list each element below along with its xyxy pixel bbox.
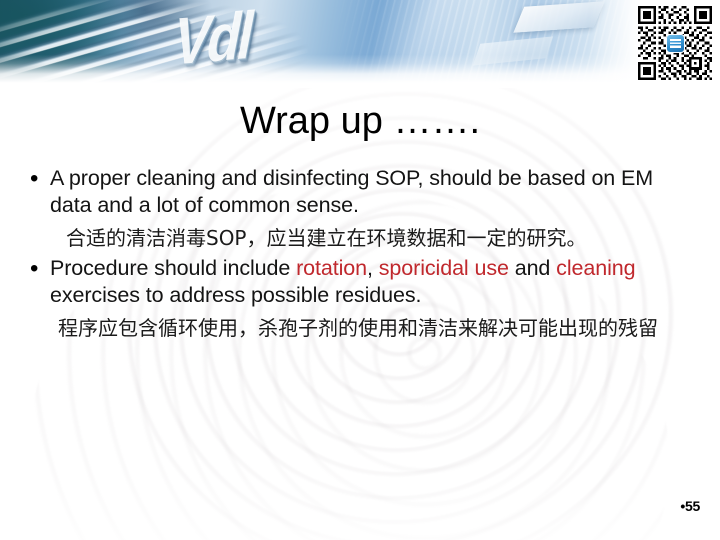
- bullet-item-2: • Procedure should include rotation, spo…: [24, 255, 696, 309]
- bullet-marker-icon: •: [24, 165, 50, 193]
- bullet-2-segment-4: and: [509, 256, 556, 280]
- bullet-2-segment-3: sporicidal use: [379, 256, 509, 280]
- bullet-text-2: Procedure should include rotation, spori…: [50, 255, 696, 309]
- bullet-1-translation: 合适的清洁消毒SOP，应当建立在环境数据和一定的研究。: [66, 225, 696, 251]
- bullet-2-segment-1: rotation: [296, 256, 367, 280]
- bullet-2-translation: 程序应包含循环使用，杀孢子剂的使用和清洁来解决可能出现的残留: [58, 315, 696, 341]
- bullet-2-segment-6: exercises to address possible residues.: [50, 283, 421, 307]
- bullet-item-1: • A proper cleaning and disinfecting SOP…: [24, 165, 696, 219]
- bullet-marker-icon: •: [24, 255, 50, 283]
- bullet-2-segment-2: ,: [367, 256, 379, 280]
- slide: Vdl: [0, 0, 720, 540]
- bullet-2-segment-5: cleaning: [556, 256, 635, 280]
- bullet-text-1: A proper cleaning and disinfecting SOP, …: [50, 165, 696, 219]
- header-banner-image: Vdl: [0, 0, 640, 88]
- slide-body: • A proper cleaning and disinfecting SOP…: [24, 165, 696, 341]
- page-title: Wrap up …….: [0, 100, 720, 143]
- bullet-1-segment-0: A proper cleaning and disinfecting SOP, …: [50, 166, 653, 217]
- bullet-2-segment-0: Procedure should include: [50, 256, 296, 280]
- page-number: •55: [680, 498, 700, 514]
- qr-code[interactable]: [638, 6, 712, 80]
- wechat-icon: [666, 34, 685, 53]
- banner-right-fade: [0, 0, 640, 88]
